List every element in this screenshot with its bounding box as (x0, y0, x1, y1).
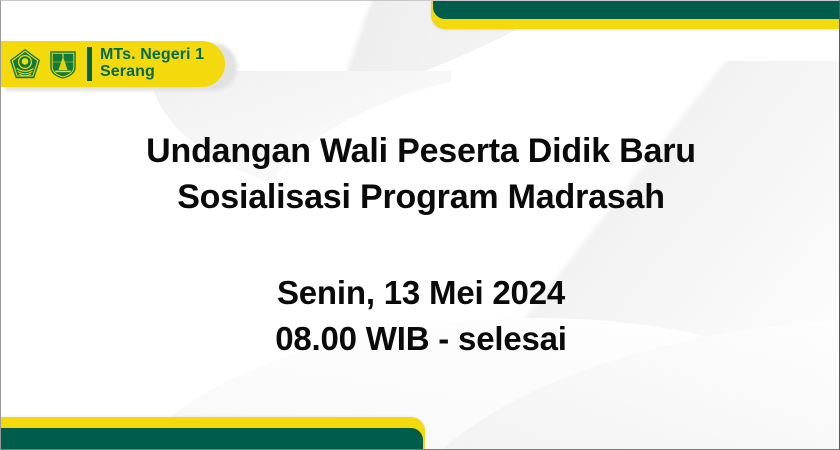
announcement-title-line-1: Undangan Wali Peserta Didik Baru (1, 129, 840, 175)
background-swoosh-logo (151, 71, 451, 211)
kemenag-logo-icon (7, 46, 43, 82)
announcement-slide: MTs. Negeri 1 Serang Undangan Wali Peser… (0, 0, 840, 450)
announcement-title: Undangan Wali Peserta Didik Baru Sosiali… (1, 129, 840, 220)
announcement-date: Senin, 13 Mei 2024 (1, 270, 840, 316)
background-swoosh-middle (251, 61, 840, 361)
kabupaten-serang-logo-icon (45, 46, 81, 82)
announcement-time: 08.00 WIB - selesai (1, 316, 840, 362)
background-swoosh-bottom-right (379, 319, 840, 450)
announcement-schedule: Senin, 13 Mei 2024 08.00 WIB - selesai (1, 270, 840, 362)
bottom-accent-green-stripe (1, 428, 423, 449)
bottom-left-accent-bar (1, 417, 425, 449)
school-name: MTs. Negeri 1 Serang (100, 47, 204, 80)
announcement-title-line-2: Sosialisasi Program Madrasah (1, 175, 840, 221)
school-badge: MTs. Negeri 1 Serang (1, 41, 225, 87)
school-name-line-2: Serang (100, 64, 204, 81)
badge-divider (87, 47, 92, 81)
top-right-accent-bar (431, 1, 839, 29)
school-name-line-1: MTs. Negeri 1 (100, 47, 204, 64)
top-accent-green-stripe (433, 1, 839, 19)
